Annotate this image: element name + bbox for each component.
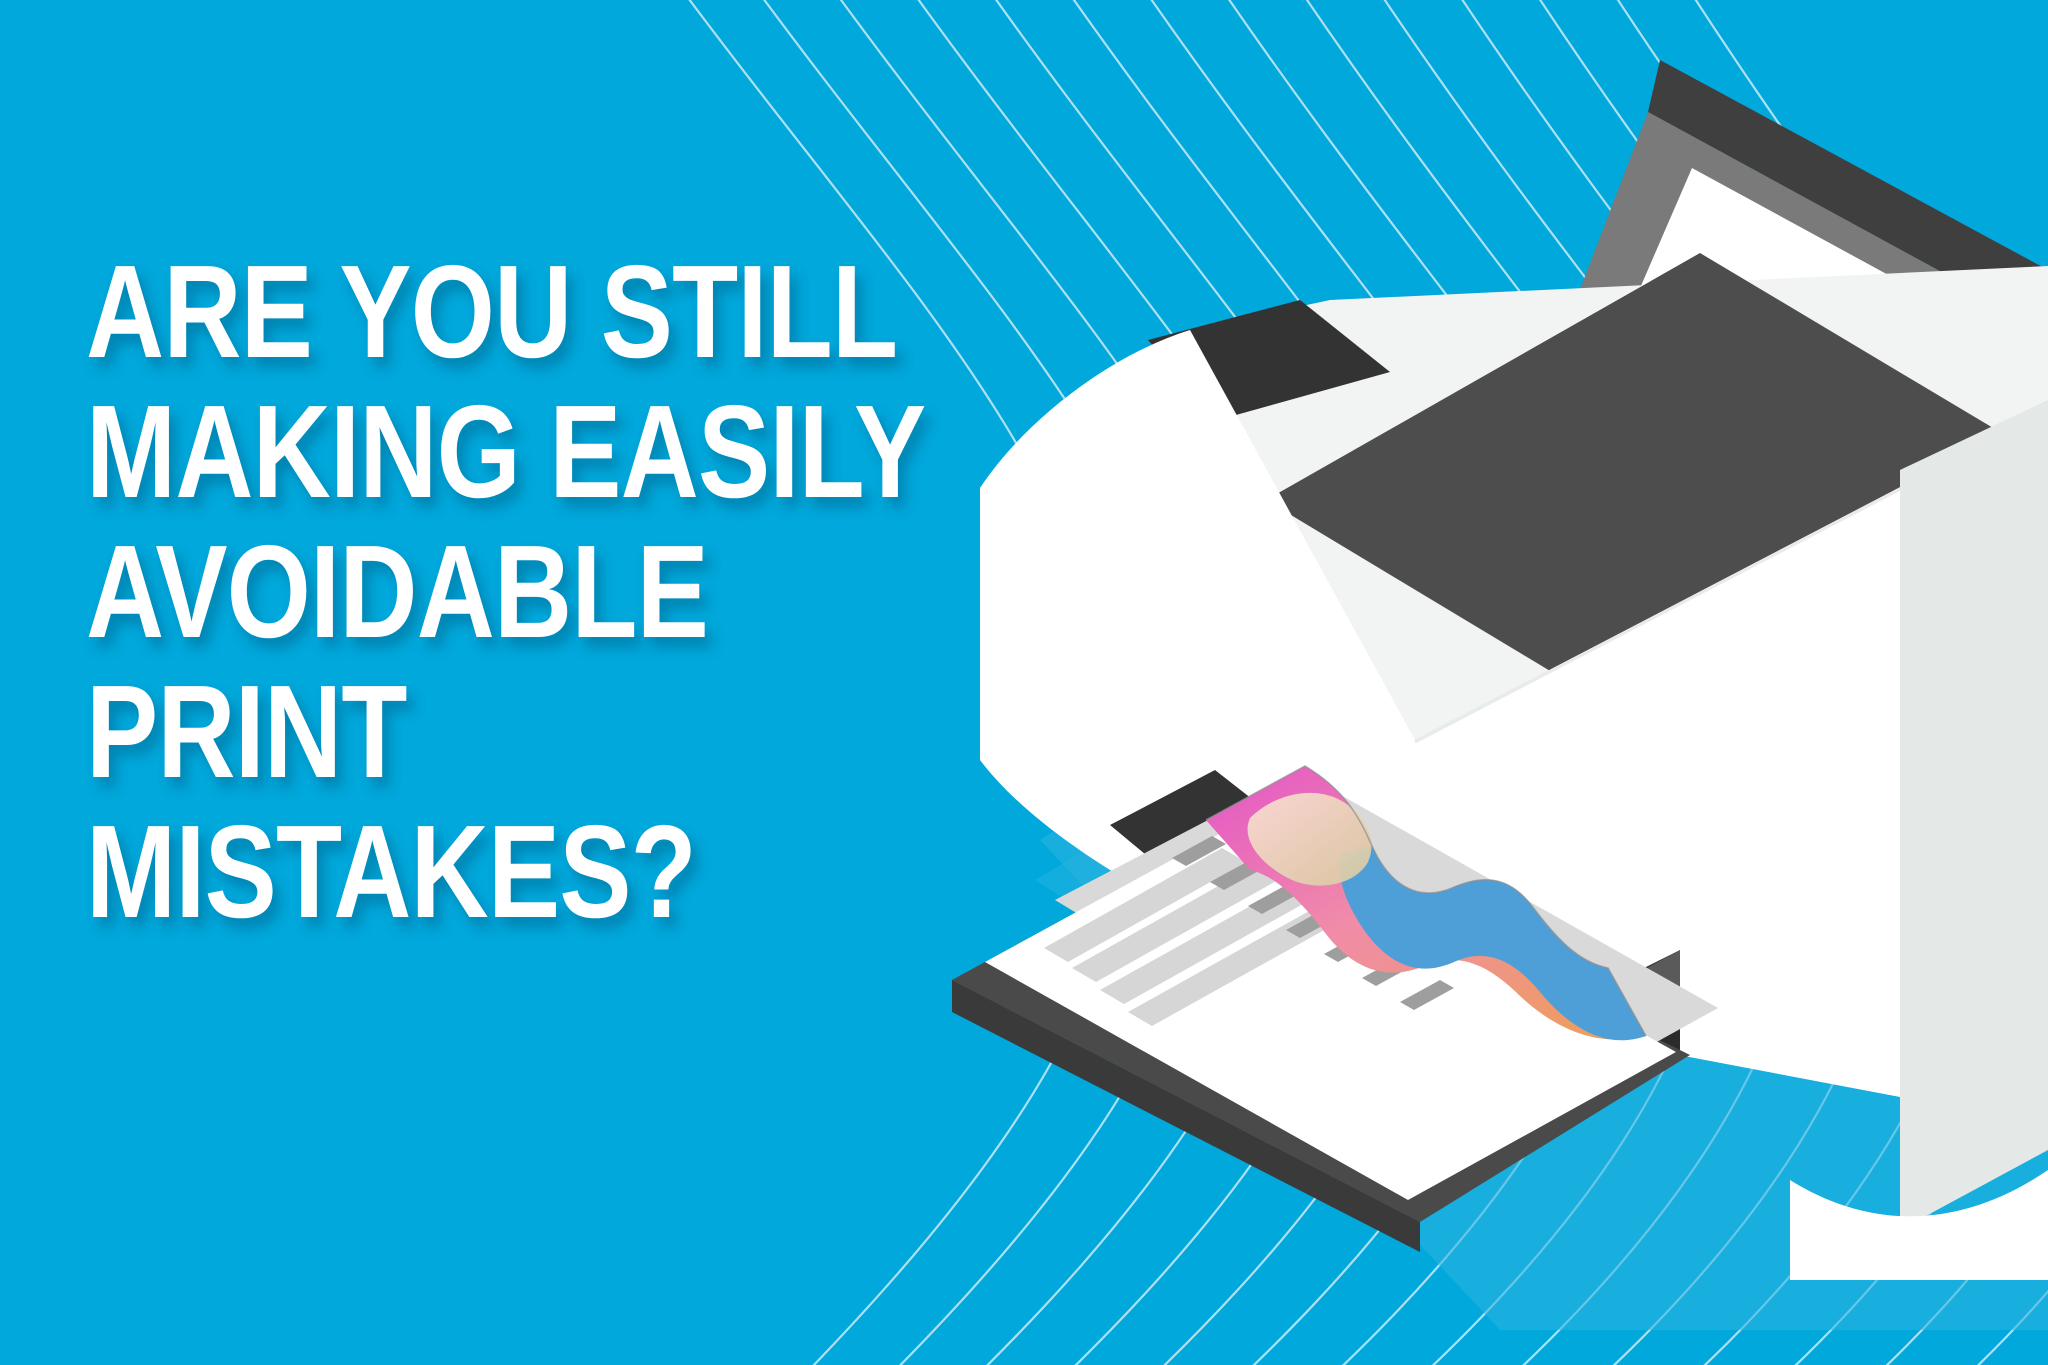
printer-right-face (1900, 400, 2048, 1230)
headline-line-4: PRINT (86, 668, 906, 796)
headline-line-2: MAKING EASILY (86, 388, 906, 516)
headline-line-3: AVOIDABLE (86, 528, 906, 656)
promo-banner: ARE YOU STILL MAKING EASILY AVOIDABLE PR… (0, 0, 2048, 1365)
headline-line-5: MISTAKES? (86, 808, 906, 936)
headline-block: ARE YOU STILL MAKING EASILY AVOIDABLE PR… (86, 248, 1086, 948)
headline-line-1: ARE YOU STILL (86, 248, 906, 376)
